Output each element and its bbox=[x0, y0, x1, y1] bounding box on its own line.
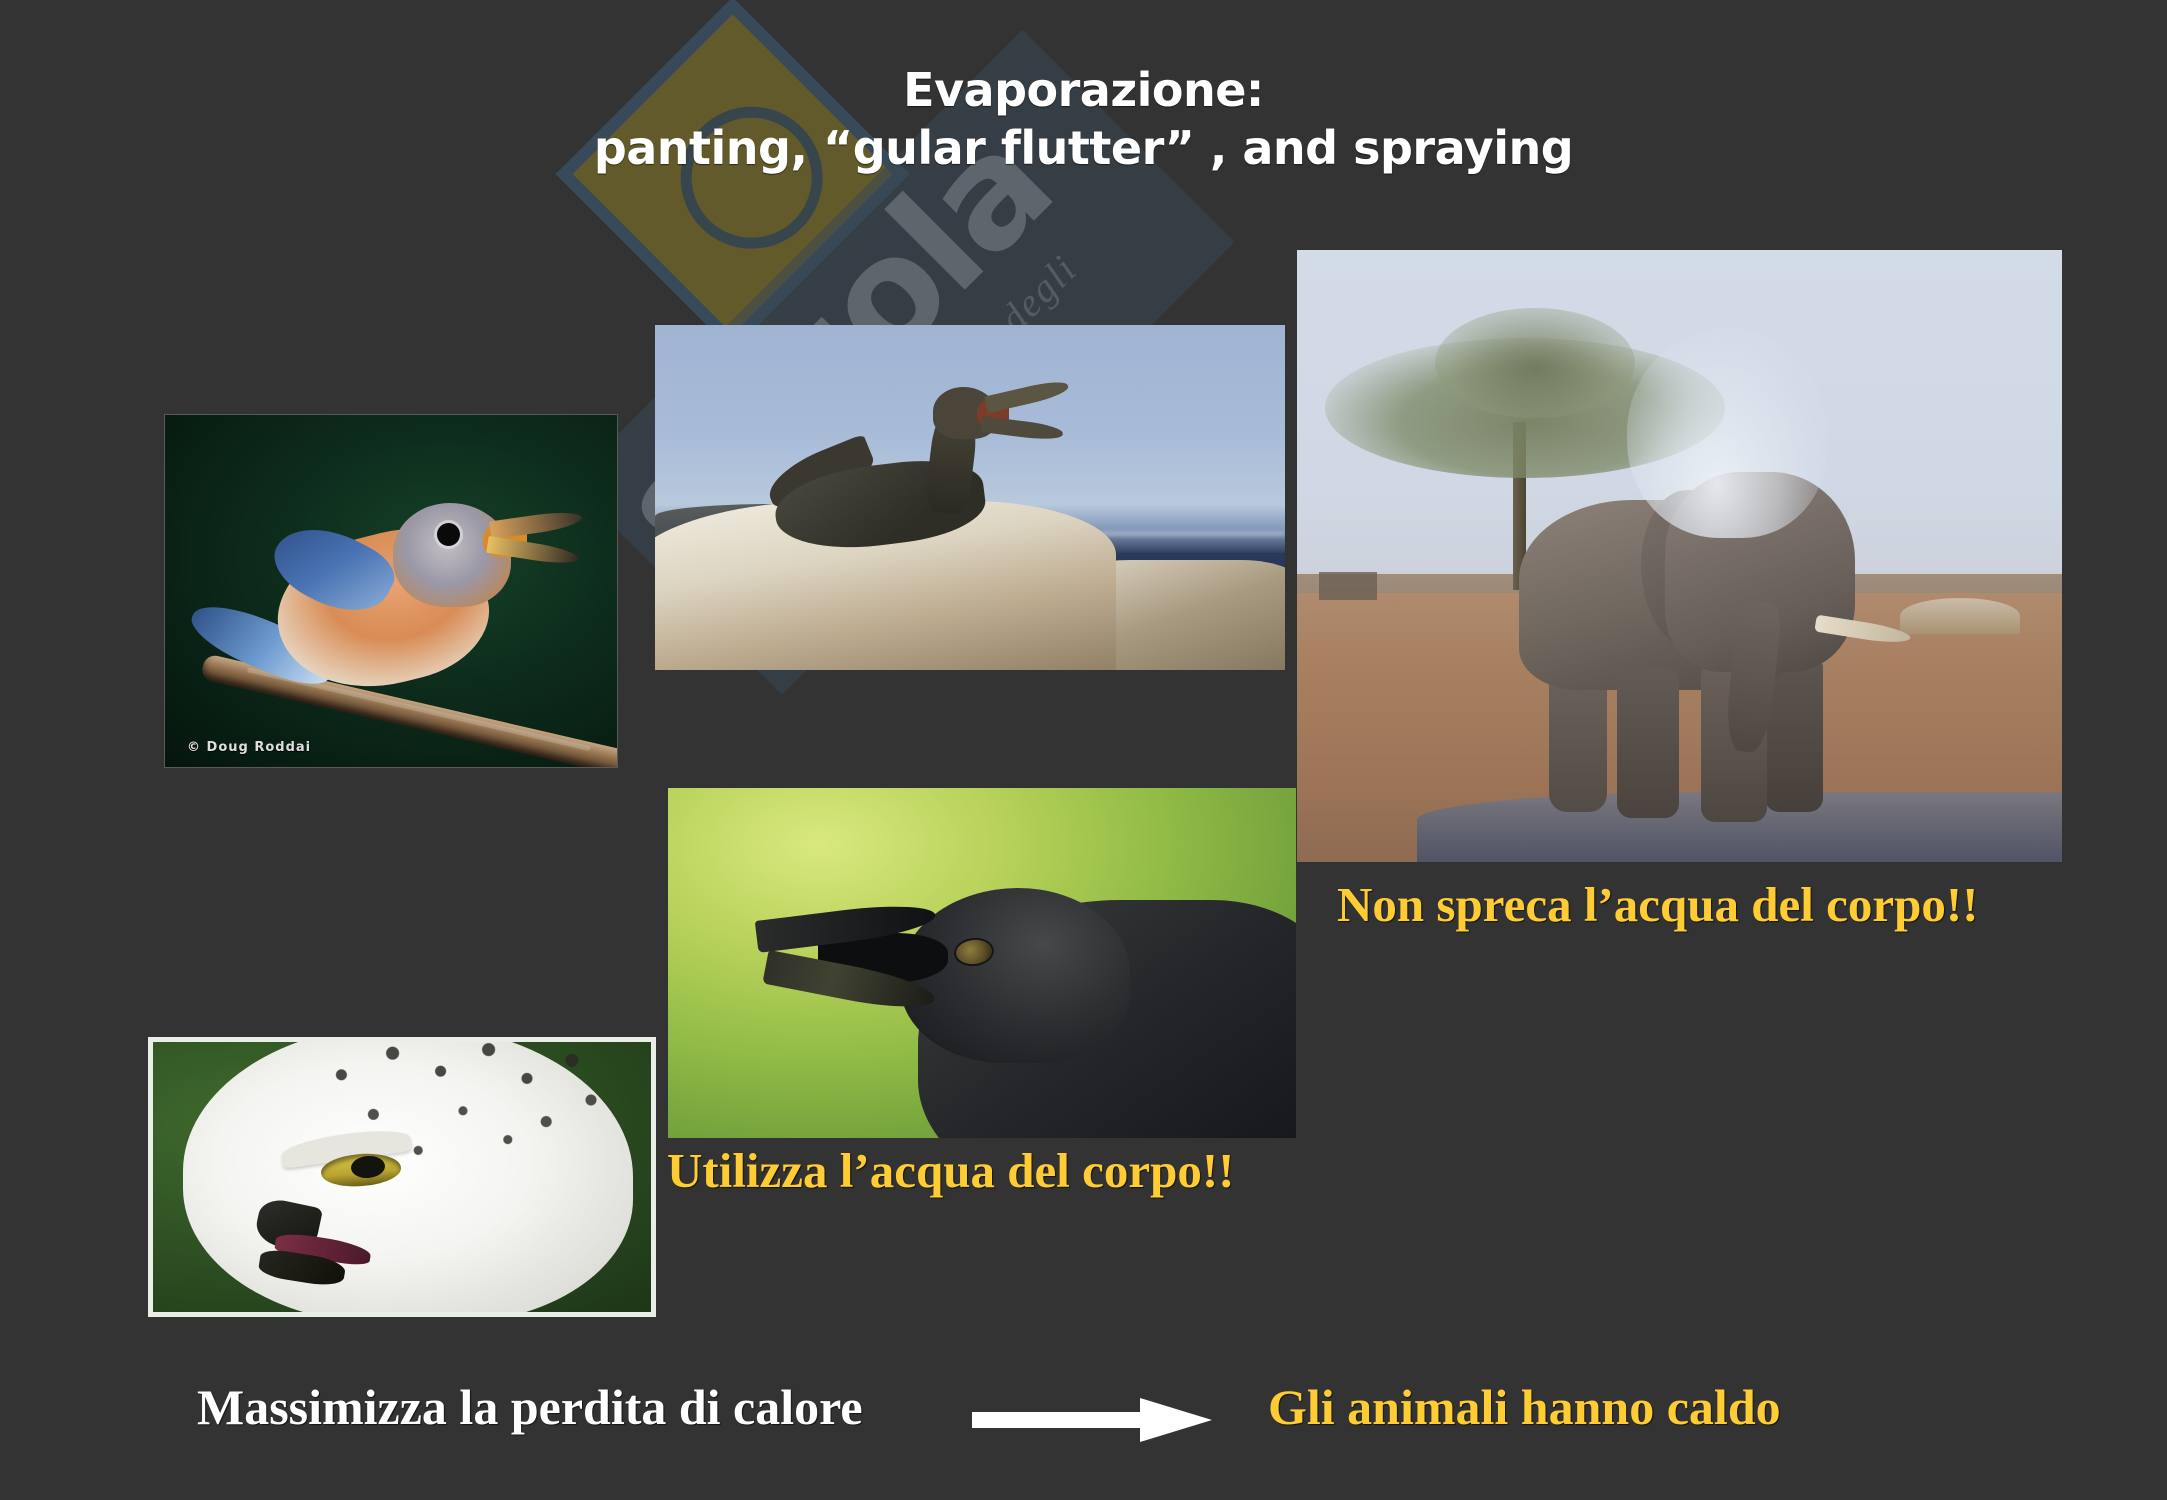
bottom-right-text: Gli animali hanno caldo bbox=[1268, 1378, 1781, 1436]
right-arrow-icon bbox=[972, 1398, 1212, 1442]
bottom-left-text: Massimizza la perdita di calore bbox=[197, 1378, 863, 1436]
elephant-sand-mound bbox=[1900, 598, 2020, 634]
photo-snowy-owl-gular-flutter bbox=[148, 1037, 656, 1317]
bluebird-eye bbox=[437, 523, 460, 546]
caption-no-water-waste: Non spreca l’acqua del corpo!! bbox=[1337, 876, 1979, 933]
elephant-hut bbox=[1319, 572, 1377, 600]
title-line-1: Evaporazione: bbox=[903, 63, 1264, 117]
title-line-2: panting, “gular flutter” , and spraying bbox=[0, 120, 2167, 178]
slide-canvas: skuola il portale degli studenti Evapora… bbox=[0, 0, 2167, 1500]
slide-title: Evaporazione: panting, “gular flutter” ,… bbox=[0, 62, 2167, 178]
photo-elephant-spraying bbox=[1297, 250, 2062, 862]
photo-crow-panting bbox=[668, 788, 1296, 1138]
elephant-tree-canopy-top bbox=[1435, 308, 1635, 418]
elephant-water-spray bbox=[1627, 328, 1827, 538]
photo-cormorant-gular-flutter bbox=[655, 325, 1285, 670]
photo-bluebird-panting: © Doug Roddai bbox=[165, 415, 617, 767]
caption-uses-body-water: Utilizza l’acqua del corpo!! bbox=[667, 1142, 1234, 1199]
elephant-leg-front-left bbox=[1617, 668, 1679, 818]
bottom-conclusion-row: Massimizza la perdita di calore Gli anim… bbox=[0, 1378, 2167, 1458]
photo-credit: © Doug Roddai bbox=[187, 740, 311, 755]
